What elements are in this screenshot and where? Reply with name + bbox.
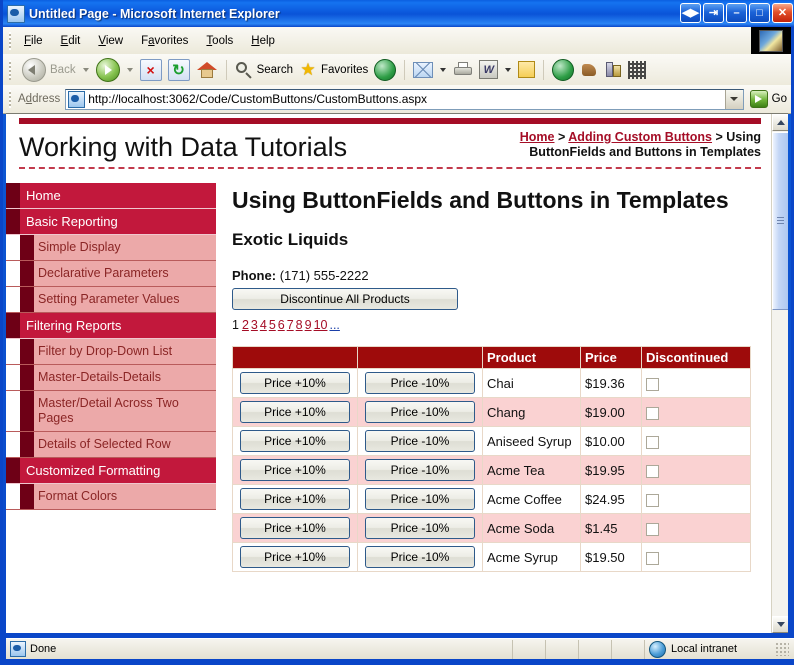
- toolbar-separator-3: [543, 60, 544, 80]
- page-body: Home Basic Reporting Simple Display Decl…: [6, 169, 771, 572]
- back-dropdown-chevron-icon[interactable]: [83, 68, 89, 72]
- cell-decrease: Price -10%: [358, 514, 483, 543]
- notes-icon: [518, 61, 535, 78]
- maximize-glyph: □: [750, 4, 769, 22]
- pagination: 12345678910...: [232, 318, 757, 332]
- cell-product: Aniseed Syrup: [483, 427, 581, 456]
- media-icon: [604, 61, 622, 79]
- cell-decrease: Price -10%: [358, 369, 483, 398]
- close-icon: ✕: [773, 4, 792, 22]
- table-row: Price +10% Price -10% Acme Soda $1.45: [233, 514, 751, 543]
- table-row: Price +10% Price -10% Chang $19.00: [233, 398, 751, 427]
- table-row: Price +10% Price -10% Chai $19.36: [233, 369, 751, 398]
- edit-dropdown-chevron-icon[interactable]: [505, 68, 511, 72]
- cell-discontinued: [642, 398, 751, 427]
- sidebar-item-setting-parameter-values[interactable]: Setting Parameter Values: [6, 287, 216, 313]
- page-content: Working with Data Tutorials Home > Addin…: [6, 114, 771, 633]
- pager-page-4[interactable]: 4: [260, 318, 267, 332]
- encoding-button[interactable]: [625, 58, 649, 82]
- search-button[interactable]: Search: [232, 58, 296, 82]
- sidebar-item-details-of-selected-row[interactable]: Details of Selected Row: [6, 432, 216, 458]
- cell-increase: Price +10%: [233, 398, 358, 427]
- media-button[interactable]: [601, 58, 625, 82]
- pager-page-2[interactable]: 2: [242, 318, 249, 332]
- price-decrease-button[interactable]: Price -10%: [365, 488, 475, 510]
- discontinued-checkbox[interactable]: [646, 552, 659, 565]
- minimize-button[interactable]: –: [726, 3, 747, 23]
- minimize-glyph: –: [727, 4, 746, 22]
- stop-button[interactable]: [137, 58, 165, 82]
- address-label: Address: [18, 93, 60, 105]
- grid-col-price: Price: [581, 347, 642, 369]
- grid-col-discontinued: Discontinued: [642, 347, 751, 369]
- search-icon: [235, 61, 253, 79]
- discontinue-all-products-button[interactable]: Discontinue All Products: [232, 288, 458, 310]
- cell-decrease: Price -10%: [358, 456, 483, 485]
- local-intranet-icon: [649, 641, 666, 658]
- cell-product: Acme Soda: [483, 514, 581, 543]
- scroll-up-button[interactable]: [772, 114, 788, 131]
- pager-page-10[interactable]: 10: [314, 318, 328, 332]
- history-globe-icon: [374, 59, 396, 81]
- print-icon: [453, 62, 473, 78]
- table-row: Price +10% Price -10% Acme Coffee $24.95: [233, 485, 751, 514]
- cell-price: $19.36: [581, 369, 642, 398]
- browser-window: Untitled Page - Microsoft Internet Explo…: [0, 0, 794, 665]
- favorites-star-icon: ★: [299, 61, 317, 79]
- sidebar-item-simple-display[interactable]: Simple Display: [6, 235, 216, 261]
- refresh-button[interactable]: [165, 58, 193, 82]
- cell-decrease: Price -10%: [358, 427, 483, 456]
- status-text: Done: [30, 643, 56, 655]
- maximize-button[interactable]: □: [749, 3, 770, 23]
- sidebar-item-filtering-reports[interactable]: Filtering Reports: [6, 313, 216, 339]
- price-increase-button[interactable]: Price +10%: [240, 430, 350, 452]
- supplier-name: Exotic Liquids: [232, 230, 757, 250]
- vertical-scrollbar[interactable]: [771, 114, 788, 633]
- sidebar-item-customized-formatting[interactable]: Customized Formatting: [6, 458, 216, 484]
- close-button[interactable]: ✕: [772, 3, 793, 23]
- products-grid: Product Price Discontinued Price +10% Pr…: [232, 346, 751, 572]
- forward-arrow-icon: [96, 58, 120, 82]
- price-decrease-button[interactable]: Price -10%: [365, 372, 475, 394]
- table-row: Price +10% Price -10% Acme Tea $19.95: [233, 456, 751, 485]
- chevron-up-icon: [777, 120, 785, 125]
- sidebar-item-master-details-details[interactable]: Master-Details-Details: [6, 365, 216, 391]
- resize-grip-icon[interactable]: [775, 642, 789, 656]
- cell-price: $19.00: [581, 398, 642, 427]
- cell-increase: Price +10%: [233, 514, 358, 543]
- tab-restore-glyph: ⇥: [704, 4, 723, 22]
- print-button[interactable]: [450, 58, 476, 82]
- cell-discontinued: [642, 427, 751, 456]
- restore-group-button[interactable]: ◀▶: [680, 3, 701, 23]
- phone-label: Phone:: [232, 268, 276, 283]
- cell-increase: Price +10%: [233, 456, 358, 485]
- cell-decrease: Price -10%: [358, 398, 483, 427]
- status-page-icon: [10, 641, 26, 657]
- page-icon: [68, 91, 85, 108]
- toolbar-separator-2: [404, 60, 405, 80]
- cell-discontinued: [642, 543, 751, 572]
- site-header: Working with Data Tutorials Home > Addin…: [19, 124, 761, 169]
- cell-price: $19.50: [581, 543, 642, 572]
- history-button[interactable]: [371, 58, 399, 82]
- status-text-pane: Done: [6, 640, 512, 659]
- tab-restore-button[interactable]: ⇥: [703, 3, 724, 23]
- cell-product: Acme Coffee: [483, 485, 581, 514]
- menu-edit[interactable]: Edit: [53, 32, 89, 50]
- restore-group-glyph: ◀▶: [681, 4, 700, 22]
- notes-button[interactable]: [515, 58, 538, 82]
- discontinued-checkbox[interactable]: [646, 378, 659, 391]
- back-label: Back: [50, 64, 76, 76]
- security-zone-pane[interactable]: Local intranet: [644, 640, 794, 659]
- menu-bar: File Edit View Favorites Tools Help: [3, 27, 791, 55]
- menu-favorites[interactable]: Favorites: [133, 32, 196, 50]
- address-url-text: http://localhost:3062/Code/CustomButtons…: [88, 92, 427, 106]
- discontinued-checkbox[interactable]: [646, 465, 659, 478]
- cell-product: Chai: [483, 369, 581, 398]
- address-grip-handle[interactable]: [6, 90, 15, 108]
- status-pane-1: [512, 640, 545, 659]
- edit-button[interactable]: W: [476, 58, 501, 82]
- cell-decrease: Price -10%: [358, 485, 483, 514]
- mail-icon: [413, 62, 433, 78]
- price-increase-button[interactable]: Price +10%: [240, 546, 350, 568]
- home-icon: [196, 60, 218, 80]
- chevron-down-icon: [777, 622, 785, 627]
- forward-button[interactable]: [93, 58, 123, 82]
- sidebar-item-declarative-parameters[interactable]: Declarative Parameters: [6, 261, 216, 287]
- cell-discontinued: [642, 514, 751, 543]
- grid-col-decrease: [358, 347, 483, 369]
- go-button[interactable]: Go: [750, 90, 787, 108]
- price-increase-button[interactable]: Price +10%: [240, 517, 350, 539]
- price-increase-button[interactable]: Price +10%: [240, 488, 350, 510]
- menu-view[interactable]: View: [90, 32, 131, 50]
- table-row: Price +10% Price -10% Aniseed Syrup $10.…: [233, 427, 751, 456]
- status-pane-4: [611, 640, 644, 659]
- grid-col-product: Product: [483, 347, 581, 369]
- back-arrow-icon: [22, 58, 46, 82]
- cell-product: Acme Syrup: [483, 543, 581, 572]
- msn-button[interactable]: [577, 58, 601, 82]
- sidebar-item-master-detail-two-pages[interactable]: Master/Detail Across Two Pages: [6, 391, 216, 432]
- cell-product: Chang: [483, 398, 581, 427]
- menu-help[interactable]: Help: [243, 32, 283, 50]
- price-decrease-button[interactable]: Price -10%: [365, 546, 475, 568]
- toolbar-grip-handle[interactable]: [6, 60, 15, 80]
- breadcrumb: Home > Adding Custom Buttons > Using But…: [441, 130, 761, 163]
- discontinued-checkbox[interactable]: [646, 523, 659, 536]
- cell-price: $10.00: [581, 427, 642, 456]
- cell-increase: Price +10%: [233, 369, 358, 398]
- cell-price: $1.45: [581, 514, 642, 543]
- price-increase-button[interactable]: Price +10%: [240, 372, 350, 394]
- pager-page-6[interactable]: 6: [278, 318, 285, 332]
- cell-increase: Price +10%: [233, 427, 358, 456]
- status-pane-2: [545, 640, 578, 659]
- cell-price: $19.95: [581, 456, 642, 485]
- grid-body: Price +10% Price -10% Chai $19.36 Price …: [233, 369, 751, 572]
- status-pane-3: [578, 640, 611, 659]
- phone-line: Phone: (171) 555-2222: [232, 268, 757, 283]
- cell-increase: Price +10%: [233, 543, 358, 572]
- pager-page-5[interactable]: 5: [269, 318, 276, 332]
- menu-grip-handle[interactable]: [6, 32, 15, 50]
- stop-icon: [140, 59, 162, 81]
- breadcrumb-section-link[interactable]: Adding Custom Buttons: [568, 130, 712, 144]
- encoding-icon: [628, 61, 646, 79]
- go-label: Go: [772, 93, 787, 105]
- cell-product: Acme Tea: [483, 456, 581, 485]
- ie-brand-logo: [751, 27, 791, 54]
- cell-increase: Price +10%: [233, 485, 358, 514]
- mail-dropdown-chevron-icon[interactable]: [440, 68, 446, 72]
- sidebar-item-format-colors[interactable]: Format Colors: [6, 484, 216, 510]
- page-viewport: Working with Data Tutorials Home > Addin…: [6, 113, 788, 633]
- pager-page-7[interactable]: 7: [287, 318, 294, 332]
- price-decrease-button[interactable]: Price -10%: [365, 459, 475, 481]
- favorites-button[interactable]: ★ Favorites: [296, 58, 371, 82]
- pager-current-page: 1: [232, 318, 239, 332]
- address-dropdown-chevron-icon[interactable]: [725, 90, 743, 109]
- status-bar: Done Local intranet: [6, 638, 794, 659]
- title-bar: Untitled Page - Microsoft Internet Explo…: [3, 0, 794, 27]
- sidebar-item-basic-reporting[interactable]: Basic Reporting: [6, 209, 216, 235]
- cell-price: $24.95: [581, 485, 642, 514]
- breadcrumb-sep-2: >: [712, 130, 726, 144]
- cell-discontinued: [642, 485, 751, 514]
- table-row: Price +10% Price -10% Acme Syrup $19.50: [233, 543, 751, 572]
- grid-col-increase: [233, 347, 358, 369]
- price-increase-button[interactable]: Price +10%: [240, 401, 350, 423]
- edit-word-icon: W: [479, 60, 498, 79]
- discontinued-checkbox[interactable]: [646, 407, 659, 420]
- price-decrease-button[interactable]: Price -10%: [365, 430, 475, 452]
- refresh-icon: [168, 59, 190, 81]
- messenger-button[interactable]: [549, 58, 577, 82]
- breadcrumb-home-link[interactable]: Home: [520, 130, 555, 144]
- discontinued-checkbox[interactable]: [646, 494, 659, 507]
- grid-header-row: Product Price Discontinued: [233, 347, 751, 369]
- pager-page-9[interactable]: 9: [305, 318, 312, 332]
- pager-page-8[interactable]: 8: [296, 318, 303, 332]
- msn-butterfly-icon: [580, 61, 598, 79]
- sidebar-item-filter-by-drop-down-list[interactable]: Filter by Drop-Down List: [6, 339, 216, 365]
- price-decrease-button[interactable]: Price -10%: [365, 401, 475, 423]
- menu-file[interactable]: File: [16, 32, 51, 50]
- home-button[interactable]: [193, 58, 221, 82]
- go-arrow-icon: [750, 90, 768, 108]
- main-content: Using ButtonFields and Buttons in Templa…: [216, 169, 771, 572]
- address-bar: Address http://localhost:3062/Code/Custo…: [3, 85, 791, 114]
- pager-more-link[interactable]: ...: [329, 318, 339, 332]
- site-title: Working with Data Tutorials: [19, 132, 347, 163]
- favorites-label: Favorites: [321, 64, 368, 76]
- sidebar-nav: Home Basic Reporting Simple Display Decl…: [6, 169, 216, 510]
- security-zone-label: Local intranet: [671, 643, 737, 655]
- scrollbar-thumb[interactable]: [772, 132, 788, 310]
- scroll-down-button[interactable]: [772, 616, 788, 633]
- window-title: Untitled Page - Microsoft Internet Explo…: [29, 7, 280, 21]
- discontinued-checkbox[interactable]: [646, 436, 659, 449]
- ie-page-icon: [7, 5, 25, 23]
- pager-page-3[interactable]: 3: [251, 318, 258, 332]
- messenger-globe-icon: [552, 59, 574, 81]
- page-title: Using ButtonFields and Buttons in Templa…: [232, 187, 757, 214]
- mail-button[interactable]: [410, 58, 436, 82]
- back-button[interactable]: Back: [19, 58, 79, 82]
- browser-toolbar: Back Search ★ Favorites W: [3, 54, 791, 86]
- cell-discontinued: [642, 456, 751, 485]
- scrollbar-grip-icon: [777, 217, 784, 225]
- menu-tools[interactable]: Tools: [198, 32, 241, 50]
- toolbar-separator: [226, 60, 227, 80]
- forward-dropdown-chevron-icon[interactable]: [127, 68, 133, 72]
- price-decrease-button[interactable]: Price -10%: [365, 517, 475, 539]
- window-controls: ◀▶ ⇥ – □ ✕: [680, 3, 793, 23]
- grid-header: Product Price Discontinued: [233, 347, 751, 369]
- price-increase-button[interactable]: Price +10%: [240, 459, 350, 481]
- breadcrumb-sep-1: >: [554, 130, 568, 144]
- cell-discontinued: [642, 369, 751, 398]
- address-input[interactable]: http://localhost:3062/Code/CustomButtons…: [65, 89, 743, 110]
- sidebar-item-home[interactable]: Home: [6, 183, 216, 209]
- search-label: Search: [257, 64, 293, 76]
- phone-value: (171) 555-2222: [280, 268, 369, 283]
- cell-decrease: Price -10%: [358, 543, 483, 572]
